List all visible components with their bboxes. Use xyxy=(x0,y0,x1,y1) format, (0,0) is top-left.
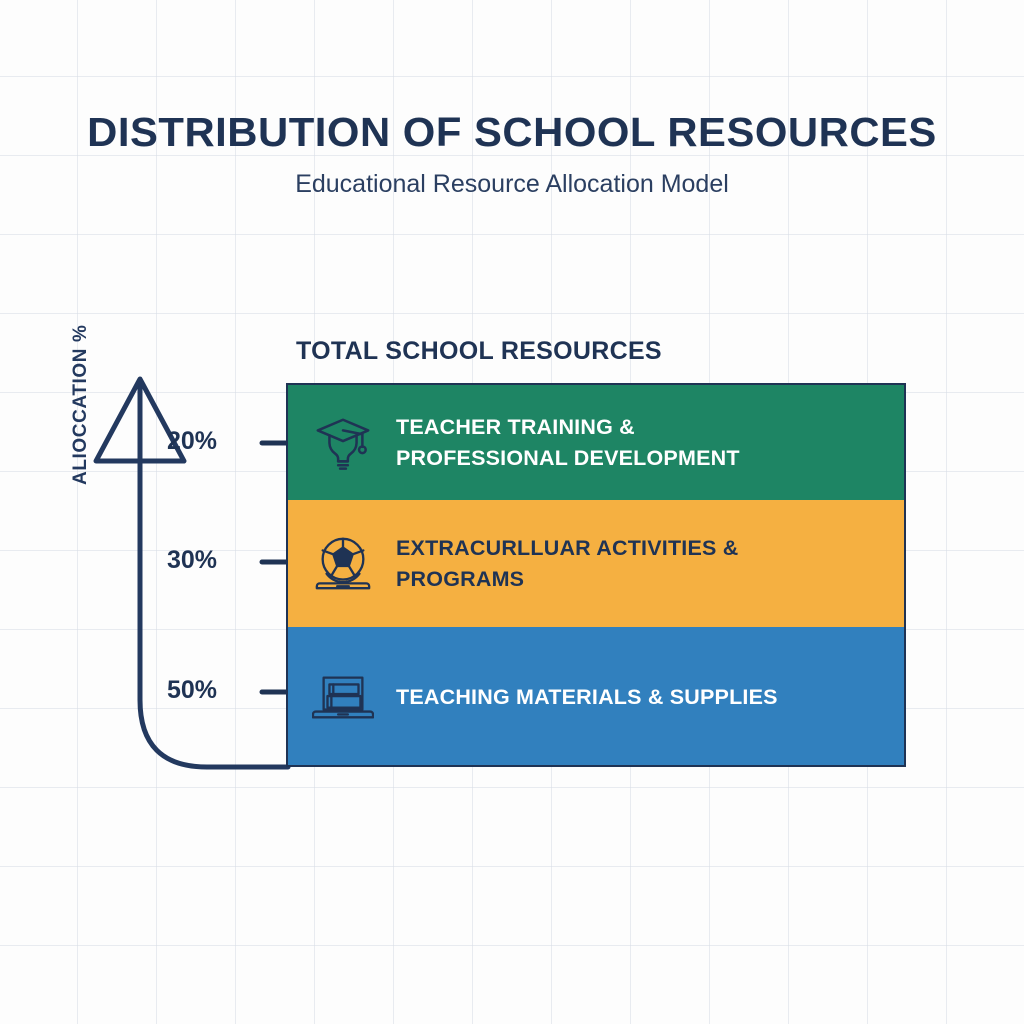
bar-column-header: TOTAL SCHOOL RESOURCES xyxy=(296,337,662,366)
chart-header: DISTRIBUTION OF SCHOOL RESOURCES Educati… xyxy=(0,112,1024,197)
graduation-cap-lightbulb-icon xyxy=(312,412,374,474)
y-axis-label: ALIOCCATION % xyxy=(62,245,100,485)
axis-tick-label: 50% xyxy=(147,676,217,705)
bar-segment-label: TEACHER TRAINING & PROFESSIONAL DEVELOPM… xyxy=(396,412,796,473)
bar-segment-teacher-training[interactable]: TEACHER TRAINING & PROFESSIONAL DEVELOPM… xyxy=(288,385,904,500)
books-laptop-icon xyxy=(312,666,374,728)
axis-tick-label: 20% xyxy=(147,427,217,456)
soccer-ball-icon xyxy=(312,533,374,595)
stacked-bar: TEACHER TRAINING & PROFESSIONAL DEVELOPM… xyxy=(286,383,906,767)
page-subtitle: Educational Resource Allocation Model xyxy=(0,172,1024,197)
bar-segment-label: TEACHING MATERIALS & SUPPLIES xyxy=(396,682,778,713)
axis-tick-label: 30% xyxy=(147,546,217,575)
page-title: DISTRIBUTION OF SCHOOL RESOURCES xyxy=(0,112,1024,153)
bar-segment-label: EXTRACURLLUAR ACTIVITIES & PROGRAMS xyxy=(396,533,796,594)
bar-segment-teaching-materials[interactable]: TEACHING MATERIALS & SUPPLIES xyxy=(288,627,904,767)
bar-segment-extracurricular[interactable]: EXTRACURLLUAR ACTIVITIES & PROGRAMS xyxy=(288,500,904,627)
chart-canvas: DISTRIBUTION OF SCHOOL RESOURCES Educati… xyxy=(0,0,1024,1024)
